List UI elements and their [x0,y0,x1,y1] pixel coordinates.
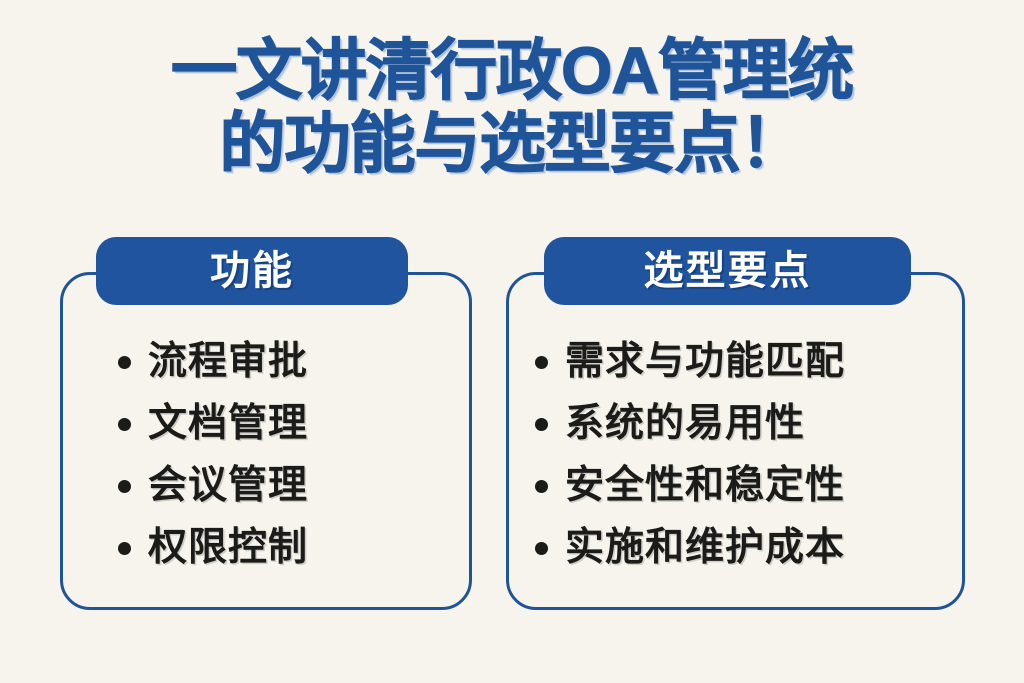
list-item-label: 安全性和稳定性 [565,455,845,517]
list-item-label: 流程审批 [148,331,308,393]
card-functions-header-label: 功能 [210,249,294,293]
bullet-icon [118,356,131,369]
card-selection-points: 选型要点 需求与功能匹配 系统的易用性 安全性和稳定性 实施和维护成本 [506,272,965,610]
list-item: 会议管理 [63,455,469,517]
title-line-1: 一文讲清行政OA管理统 [0,34,1024,107]
list-item-label: 文档管理 [148,393,308,455]
bullet-icon [535,356,548,369]
bullet-icon [118,418,131,431]
list-item-label: 实施和维护成本 [565,517,845,579]
list-item: 权限控制 [63,517,469,579]
list-item-label: 会议管理 [148,455,308,517]
list-item: 系统的易用性 [509,393,962,455]
card-functions-header: 功能 [96,237,408,305]
list-item-label: 系统的易用性 [565,393,805,455]
page-title: 一文讲清行政OA管理统 的功能与选型要点！ [0,34,1024,180]
list-item-label: 权限控制 [148,517,308,579]
card-functions-list: 流程审批 文档管理 会议管理 权限控制 [63,331,469,579]
card-selection-points-list: 需求与功能匹配 系统的易用性 安全性和稳定性 实施和维护成本 [509,331,962,579]
bullet-icon [535,542,548,555]
poster-canvas: 一文讲清行政OA管理统 的功能与选型要点！ 功能 流程审批 文档管理 会议管理 … [0,0,1024,683]
bullet-icon [535,418,548,431]
list-item: 安全性和稳定性 [509,455,962,517]
title-line-2: 的功能与选型要点！ [0,107,1024,180]
bullet-icon [118,542,131,555]
list-item-label: 需求与功能匹配 [565,331,845,393]
list-item: 需求与功能匹配 [509,331,962,393]
bullet-icon [535,480,548,493]
card-functions: 功能 流程审批 文档管理 会议管理 权限控制 [60,272,472,610]
bullet-icon [118,480,131,493]
list-item: 文档管理 [63,393,469,455]
card-selection-points-header-label: 选型要点 [644,249,812,293]
card-selection-points-header: 选型要点 [544,237,911,305]
list-item: 实施和维护成本 [509,517,962,579]
list-item: 流程审批 [63,331,469,393]
